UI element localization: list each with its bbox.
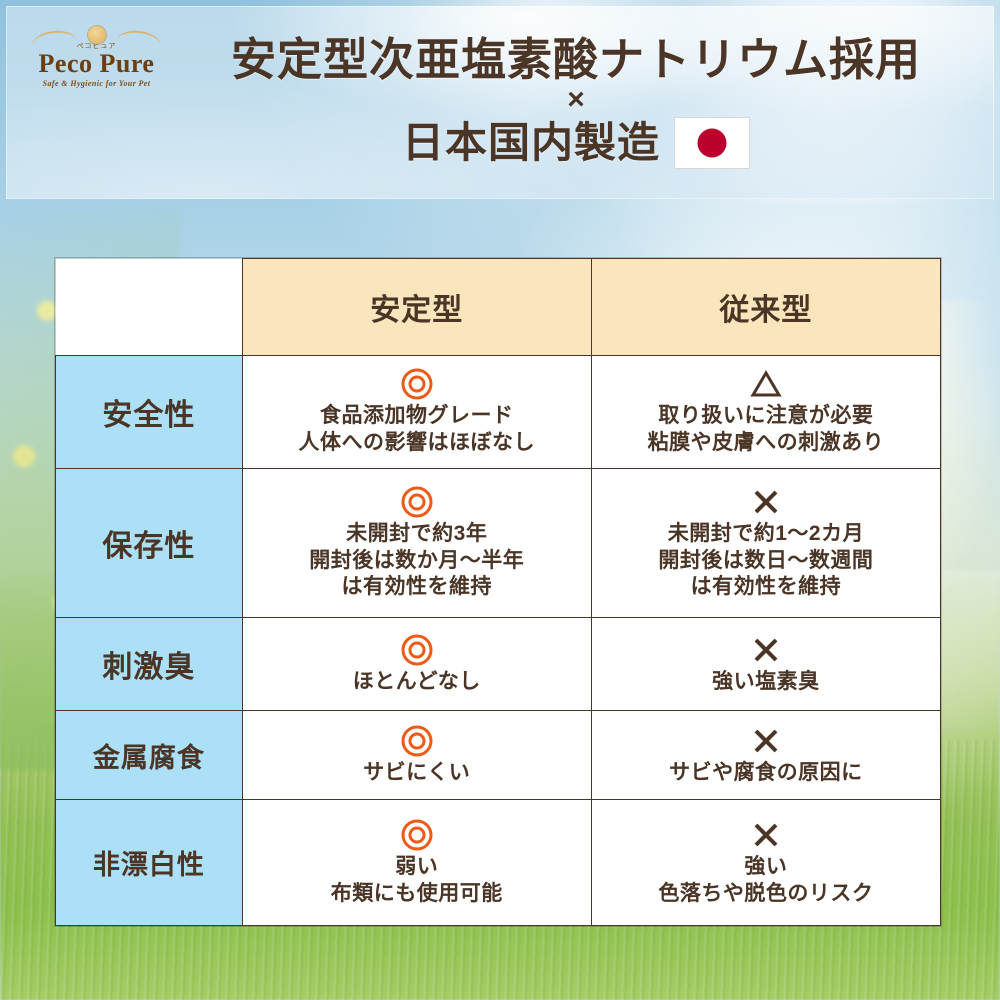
double-circle-icon	[243, 367, 591, 401]
banner-headline: 安定型次亜塩素酸ナトリウム採用 × 日本国内製造	[176, 36, 976, 169]
cell-text: 食品添加物グレード 人体への影響はほぼなし	[243, 403, 591, 457]
double-circle-icon	[243, 485, 591, 519]
row-label-corrosion: 金属腐食	[56, 711, 243, 800]
double-circle-icon	[243, 633, 591, 667]
header-legacy: 従来型	[591, 259, 940, 356]
triangle-icon	[592, 367, 940, 401]
logo-ornament	[24, 26, 169, 42]
cell-legacy-odor: 強い塩素臭	[591, 618, 940, 711]
cell-stable-odor: ほとんどなし	[242, 618, 591, 711]
row-label-safety: 安全性	[56, 356, 243, 469]
cross-icon	[592, 724, 940, 758]
cell-legacy-storage: 未開封で約1〜2カ月 開封後は数日〜数週間 は有効性を維持	[591, 469, 940, 618]
header-banner: ペコピュア Peco Pure Safe & Hygienic for Your…	[6, 6, 994, 199]
cell-stable-corrosion: サビにくい	[242, 711, 591, 800]
paw-print-icon	[88, 26, 106, 44]
brand-logo: ペコピュア Peco Pure Safe & Hygienic for Your…	[24, 26, 169, 98]
double-circle-icon	[243, 818, 591, 852]
headline-line-2: 日本国内製造	[402, 121, 660, 165]
row-label-nonbleach: 非漂白性	[56, 800, 243, 926]
headline-line-2-wrap: 日本国内製造	[176, 117, 976, 169]
table-row: 非漂白性 弱い 布類にも使用可能 強い 色落ちや脱色のリスク	[56, 800, 941, 926]
cross-icon	[592, 485, 940, 519]
table-row: 保存性 未開封で約3年 開封後は数か月〜半年 は有効性を維持 未開封で約1〜2カ…	[56, 469, 941, 618]
headline-line-1: 安定型次亜塩素酸ナトリウム採用	[176, 36, 976, 83]
cell-legacy-safety: 取り扱いに注意が必要 粘膜や皮膚への刺激あり	[591, 356, 940, 469]
cell-stable-nonbleach: 弱い 布類にも使用可能	[242, 800, 591, 926]
cell-stable-storage: 未開封で約3年 開封後は数か月〜半年 は有効性を維持	[242, 469, 591, 618]
headline-separator: ×	[176, 85, 976, 115]
cell-text: 未開封で約1〜2カ月 開封後は数日〜数週間 は有効性を維持	[592, 521, 940, 602]
cross-icon	[592, 818, 940, 852]
cell-text: 未開封で約3年 開封後は数か月〜半年 は有効性を維持	[243, 521, 591, 602]
cell-text: 強い 色落ちや脱色のリスク	[592, 854, 940, 908]
comparison-table: 安定型 従来型 安全性 食品添加物グレード 人体への影響はほぼなし 取り	[55, 258, 941, 926]
cell-text: サビにくい	[243, 760, 591, 787]
cross-icon	[592, 633, 940, 667]
row-label-odor: 刺激臭	[56, 618, 243, 711]
table-row: 安全性 食品添加物グレード 人体への影響はほぼなし 取り扱いに注意が必要 粘膜や…	[56, 356, 941, 469]
double-circle-icon	[243, 724, 591, 758]
cell-text: サビや腐食の原因に	[592, 760, 940, 787]
cell-legacy-corrosion: サビや腐食の原因に	[591, 711, 940, 800]
cell-text: 弱い 布類にも使用可能	[243, 854, 591, 908]
cell-text: 取り扱いに注意が必要 粘膜や皮膚への刺激あり	[592, 403, 940, 457]
logo-tagline: Safe & Hygienic for Your Pet	[24, 79, 169, 88]
cell-legacy-nonbleach: 強い 色落ちや脱色のリスク	[591, 800, 940, 926]
table-row: 刺激臭 ほとんどなし 強い塩素臭	[56, 618, 941, 711]
logo-wordmark: Peco Pure	[24, 51, 169, 77]
row-label-storage: 保存性	[56, 469, 243, 618]
header-stable: 安定型	[242, 259, 591, 356]
header-corner-cell	[56, 259, 243, 356]
table-header-row: 安定型 従来型	[56, 259, 941, 356]
cell-text: ほとんどなし	[243, 669, 591, 696]
cell-stable-safety: 食品添加物グレード 人体への影響はほぼなし	[242, 356, 591, 469]
table-row: 金属腐食 サビにくい サビや腐食の原因に	[56, 711, 941, 800]
japan-flag-icon	[674, 117, 750, 169]
cell-text: 強い塩素臭	[592, 669, 940, 696]
